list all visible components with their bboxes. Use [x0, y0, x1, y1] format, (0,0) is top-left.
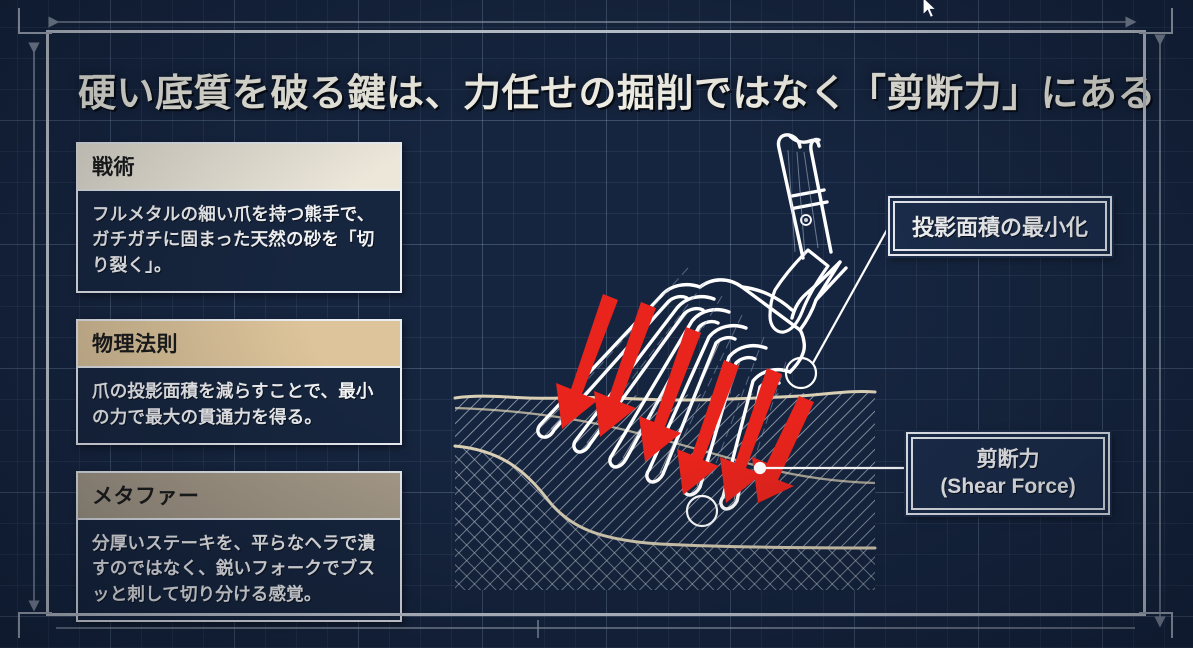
- dimension-lines: [0, 0, 1193, 648]
- blueprint-canvas: 硬い底質を破る鍵は、力任せの掘削ではなく「剪断力」にある 戦術 フルメタルの細い…: [0, 0, 1193, 648]
